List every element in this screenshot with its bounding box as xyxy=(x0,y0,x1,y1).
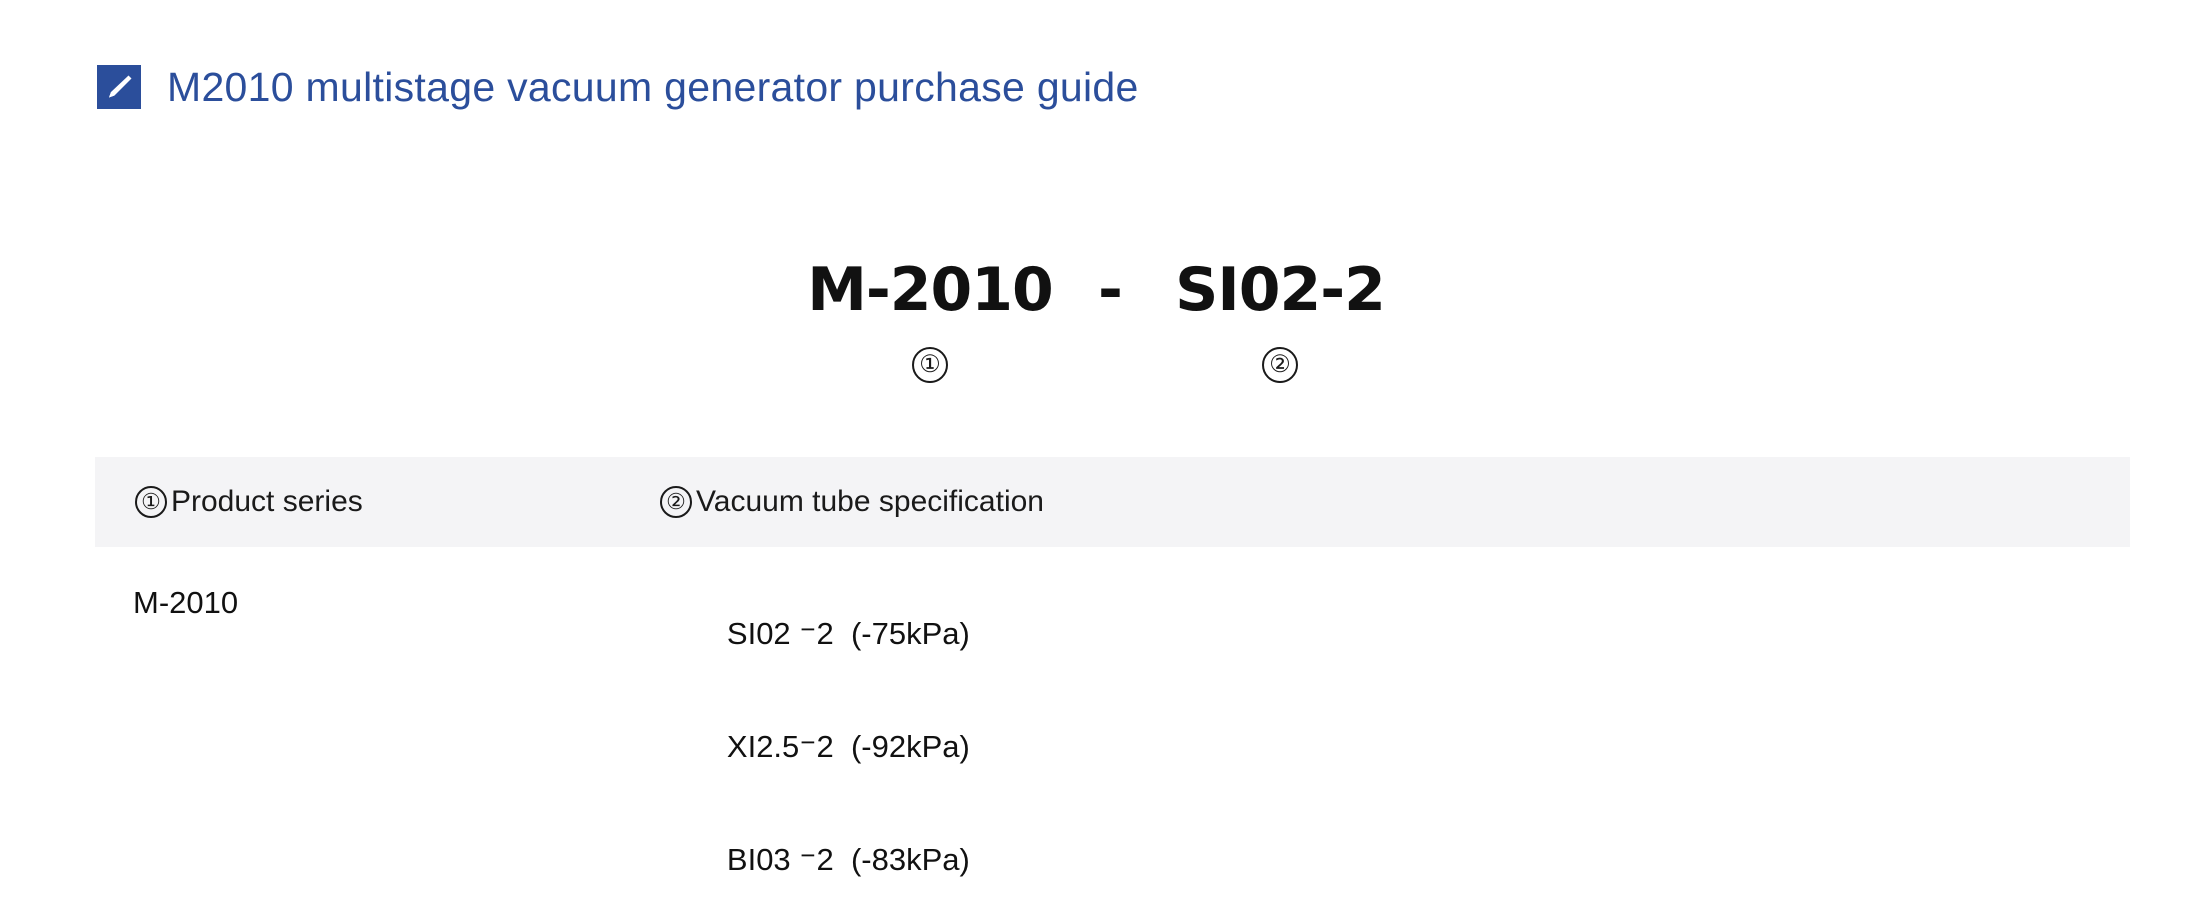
marker-slot-2: ② xyxy=(1165,347,1395,383)
product-series-value: M-2010 xyxy=(133,585,238,620)
part-number-segment-1: M-2010 xyxy=(805,255,1055,325)
table-header-label-vacuum-tube-spec: Vacuum tube specification xyxy=(696,485,1044,519)
table-cell-vacuum-tube-spec: SI02 −2 (-75kPa) XI2.5−2 (-92kPa) BI03 −… xyxy=(565,585,1565,906)
marker-slot-1: ① xyxy=(805,347,1055,383)
table-header-cell-product-series: ① Product series xyxy=(95,485,565,519)
list-item: XI2.5−2 (-92kPa) xyxy=(658,698,1565,793)
spec-code-1: SI02 xyxy=(727,616,799,651)
page-title-text: M2010 multistage vacuum generator purcha… xyxy=(167,67,1139,108)
pencil-icon xyxy=(97,65,141,109)
circled-number-1: ① xyxy=(912,347,948,383)
spec-suffix-1: 2 (-75kPa) xyxy=(816,616,969,651)
spec-code-2: XI2.5 xyxy=(727,729,799,764)
part-number-row: M-2010 - SI02-2 xyxy=(0,255,2200,325)
list-item: BI03 −2 (-83kPa) xyxy=(658,811,1565,906)
table-header-cell-vacuum-tube-spec: ② Vacuum tube specification xyxy=(565,485,1565,519)
part-number-marker-row: ① ② xyxy=(0,347,2200,383)
part-number-segment-2: SI02-2 xyxy=(1165,255,1395,325)
page-title: M2010 multistage vacuum generator purcha… xyxy=(97,65,1139,109)
list-item: SI02 −2 (-75kPa) xyxy=(658,585,1565,680)
spec-separator-3: − xyxy=(799,840,816,870)
spec-separator-1: − xyxy=(799,614,816,644)
table-header-row: ① Product series ② Vacuum tube specifica… xyxy=(95,457,2130,547)
spec-suffix-2: 2 (-92kPa) xyxy=(816,729,969,764)
spec-code-3: BI03 xyxy=(727,842,799,877)
table-cell-product-series: M-2010 xyxy=(95,585,565,906)
table-row: M-2010 SI02 −2 (-75kPa) XI2.5−2 (-92kPa)… xyxy=(95,547,2130,906)
part-number-separator: - xyxy=(1055,255,1165,325)
specification-table: ① Product series ② Vacuum tube specifica… xyxy=(95,457,2130,906)
circled-number-2: ② xyxy=(1262,347,1298,383)
spec-separator-2: − xyxy=(799,727,816,757)
part-number-diagram: M-2010 - SI02-2 ① ② xyxy=(0,255,2200,383)
circled-number-2-header: ② xyxy=(660,486,692,518)
table-header-label-product-series: Product series xyxy=(171,485,363,519)
circled-number-1-header: ① xyxy=(135,486,167,518)
spec-suffix-3: 2 (-83kPa) xyxy=(816,842,969,877)
